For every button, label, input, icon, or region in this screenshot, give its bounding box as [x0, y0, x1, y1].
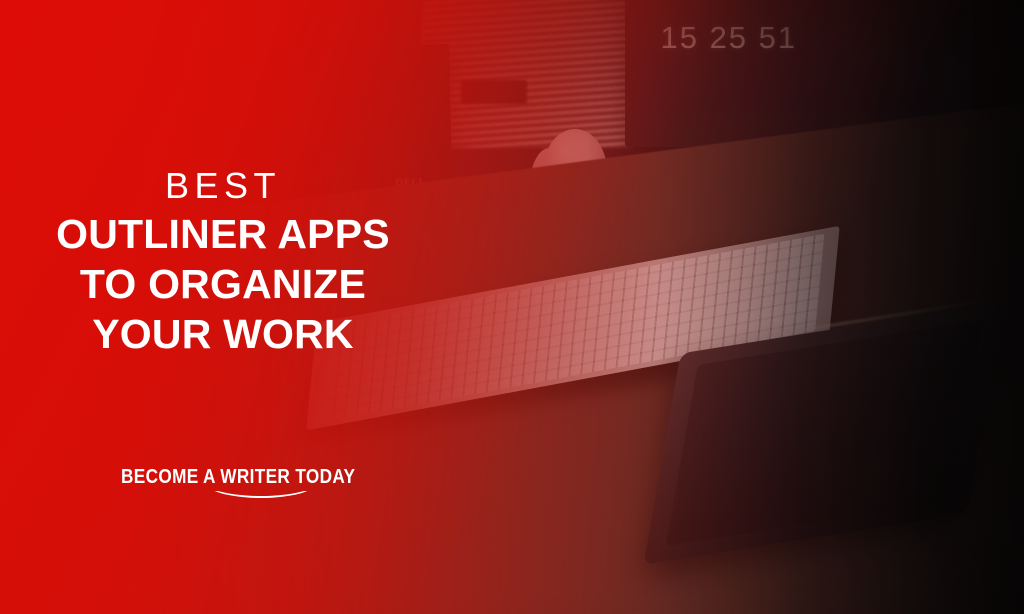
headline-line-1: BEST: [52, 168, 394, 204]
logo-swoosh-icon: [205, 491, 317, 500]
brand-logo-text: BECOME A WRITER TODAY: [121, 466, 290, 489]
headline-line-3: TO ORGANIZE: [52, 264, 394, 306]
brand-logo[interactable]: BECOME A WRITER TODAY: [121, 466, 317, 489]
headline-block: BEST OUTLINER APPS TO ORGANIZE YOUR WORK: [52, 168, 394, 355]
headline-line-4: YOUR WORK: [52, 314, 394, 356]
headline-line-2: OUTLINER APPS: [52, 214, 394, 256]
hero-banner: 15 25 51 DELL 15 25 51: [0, 0, 1024, 614]
